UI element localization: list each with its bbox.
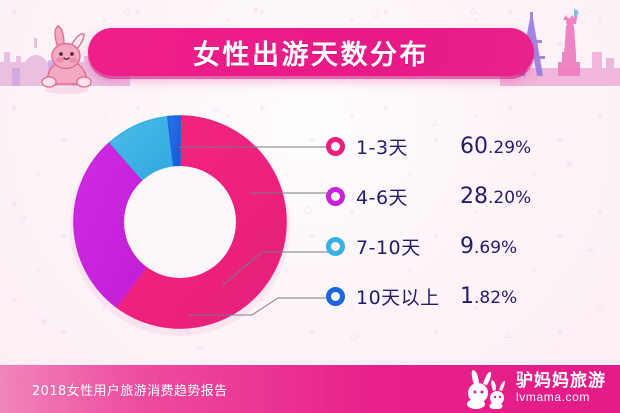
two-bunnies-logo-icon: [462, 369, 510, 409]
ring-marker-icon: [326, 287, 345, 306]
footer-bar: 2018女性用户旅游消费趋势报告 驴妈妈旅游 lvmama.com: [0, 365, 620, 413]
header-banner: 女性出游天数分布: [0, 0, 620, 100]
legend-item-7-10-days[interactable]: 7-10天 9.69%: [326, 233, 596, 259]
legend-value: 1.82%: [460, 284, 517, 309]
donut-hole: [124, 166, 236, 278]
donut-chart[interactable]: [64, 108, 296, 340]
donut-chart-svg[interactable]: [64, 108, 296, 340]
brand-name-en: lvmama.com: [516, 391, 606, 405]
legend-value: 9.69%: [460, 234, 517, 259]
legend-label: 7-10天: [356, 233, 460, 260]
statue-of-liberty-icon: [558, 8, 580, 76]
legend-item-over-10-days[interactable]: 10天以上 1.82%: [326, 283, 596, 309]
legend-label: 10天以上: [356, 283, 460, 310]
legend-label: 4-6天: [356, 183, 460, 210]
bunny-mascot-icon: [34, 22, 100, 94]
chart-legend: 1-3天 60.29% 4-6天 28.20% 7-10天 9.69% 10天以…: [326, 133, 596, 309]
report-title: 2018女性用户旅游消费趋势报告: [32, 380, 227, 399]
ring-marker-icon: [326, 187, 345, 206]
legend-item-1-3-days[interactable]: 1-3天 60.29%: [326, 133, 596, 159]
legend-value: 60.29%: [460, 134, 531, 159]
ring-marker-icon: [326, 137, 345, 156]
ring-marker-icon: [326, 237, 345, 256]
legend-label: 1-3天: [356, 133, 460, 160]
page-title-bar: 女性出游天数分布: [88, 28, 534, 76]
brand-name-cn: 驴妈妈旅游: [516, 373, 606, 391]
brand-logo[interactable]: 驴妈妈旅游 lvmama.com: [462, 367, 606, 411]
legend-item-4-6-days[interactable]: 4-6天 28.20%: [326, 183, 596, 209]
page-title: 女性出游天数分布: [193, 33, 429, 72]
legend-value: 28.20%: [460, 184, 531, 209]
